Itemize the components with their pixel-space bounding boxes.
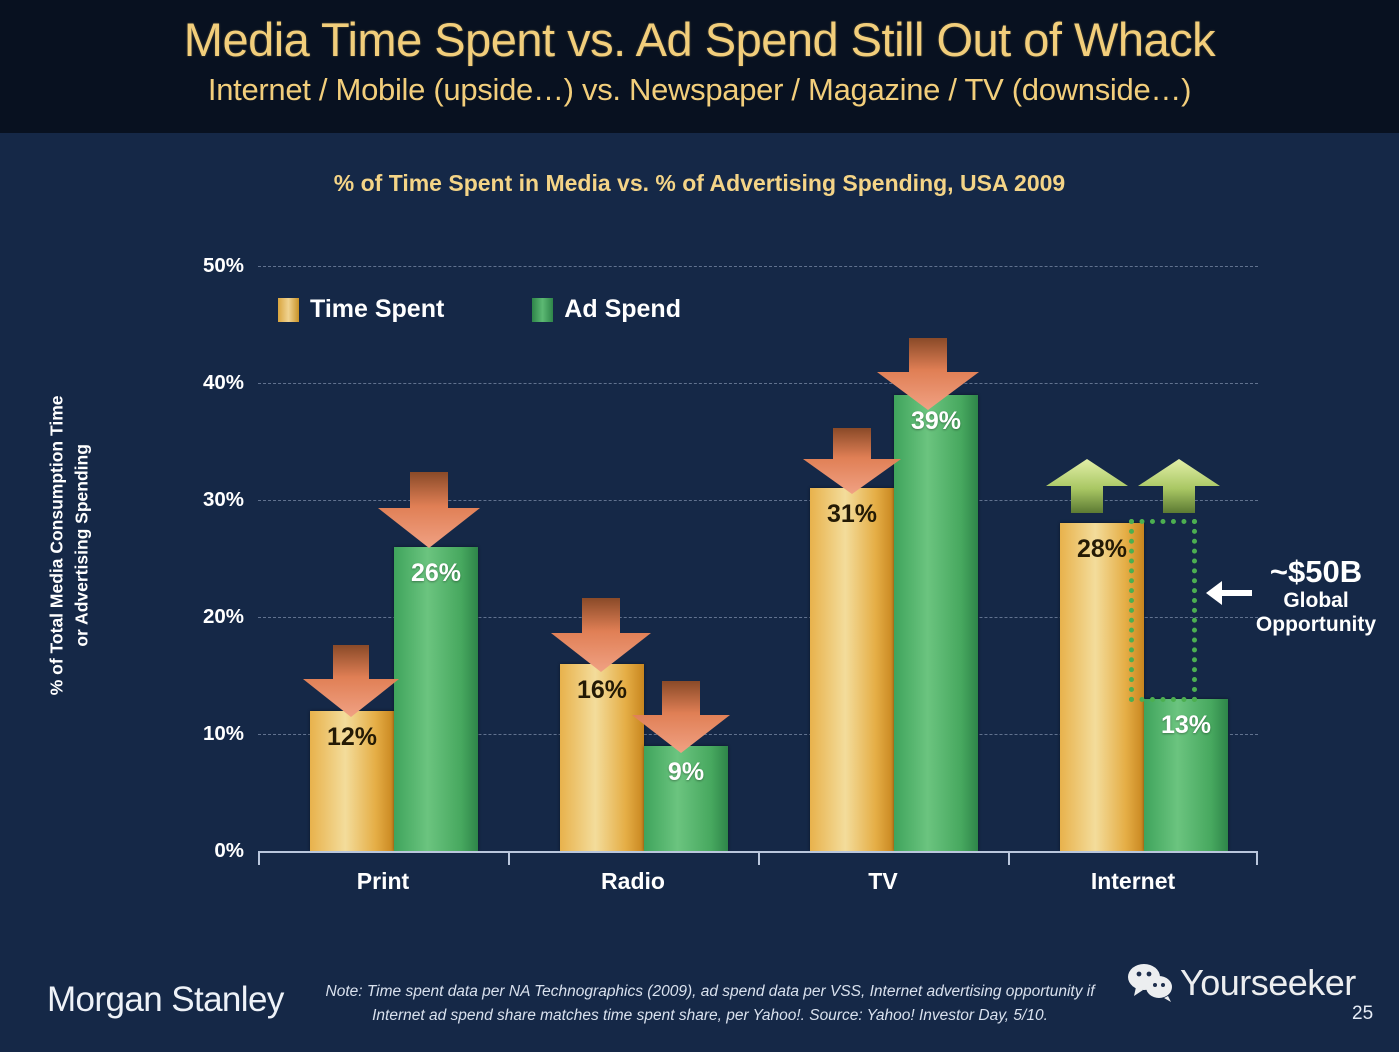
x-label-print: Print [283,868,483,895]
watermark: Yourseeker [1128,962,1356,1004]
y-tick-label-20: 20% [178,605,244,629]
x-label-tv: TV [783,868,983,895]
morgan-stanley-logo: Morgan Stanley [47,980,284,1020]
y-tick-label-0: 0% [178,839,244,863]
bar-print-ad-spend: 26% [394,547,478,851]
bar-value-radio-ad-spend: 9% [644,758,728,787]
x-axis-end-left [258,851,260,865]
x-label-radio: Radio [533,868,733,895]
x-label-internet: Internet [1033,868,1233,895]
wechat-icon [1128,963,1174,1003]
plot-area: 12% 26% 16% 9% 31% 39% 28% 13% [258,266,1258,851]
y-tick-label-30: 30% [178,488,244,512]
y-tick-label-40: 40% [178,371,244,395]
up-arrow-internet-ad-spend [1138,459,1220,513]
bar-value-internet-ad-spend: 13% [1144,711,1228,740]
slide-header-band: Media Time Spent vs. Ad Spend Still Out … [0,0,1399,133]
down-arrow-print-time-spent [303,645,399,717]
x-axis-tick-1 [508,851,510,865]
opportunity-callout: ~$50B Global Opportunity [1236,556,1396,638]
watermark-text: Yourseeker [1180,962,1356,1004]
x-axis-tick-2 [758,851,760,865]
slide-title: Media Time Spent vs. Ad Spend Still Out … [0,12,1399,67]
page-number: 25 [1352,1003,1373,1025]
y-tick-label-50: 50% [178,254,244,278]
down-arrow-print-ad-spend [378,472,480,548]
chart-title: % of Time Spent in Media vs. % of Advert… [0,170,1399,197]
x-axis-tick-3 [1008,851,1010,865]
bar-internet-ad-spend: 13% [1144,699,1228,851]
bar-value-print-time-spent: 12% [310,723,394,752]
y-tick-label-10: 10% [178,722,244,746]
callout-line-opportunity: Opportunity [1236,613,1396,638]
bar-radio-ad-spend: 9% [644,746,728,851]
bar-value-tv-time-spent: 31% [810,500,894,529]
bar-value-print-ad-spend: 26% [394,559,478,588]
callout-amount: ~$50B [1236,556,1396,589]
up-arrow-internet-time-spent [1046,459,1128,513]
down-arrow-radio-ad-spend [632,681,730,753]
opportunity-gap-box [1129,519,1197,702]
down-arrow-tv-time-spent [803,428,901,494]
bar-print-time-spent: 12% [310,711,394,851]
down-arrow-radio-time-spent [551,598,651,672]
down-arrow-tv-ad-spend [877,338,979,410]
x-axis-end-right [1256,851,1258,865]
bar-tv-time-spent: 31% [810,488,894,851]
bar-tv-ad-spend: 39% [894,395,978,851]
slide-subtitle: Internet / Mobile (upside…) vs. Newspape… [0,72,1399,108]
bar-value-tv-ad-spend: 39% [894,407,978,436]
callout-line-global: Global [1236,589,1396,614]
y-axis-title: % of Total Media Consumption Time or Adv… [45,285,96,805]
source-note: Note: Time spent data per NA Technograph… [310,980,1110,1028]
